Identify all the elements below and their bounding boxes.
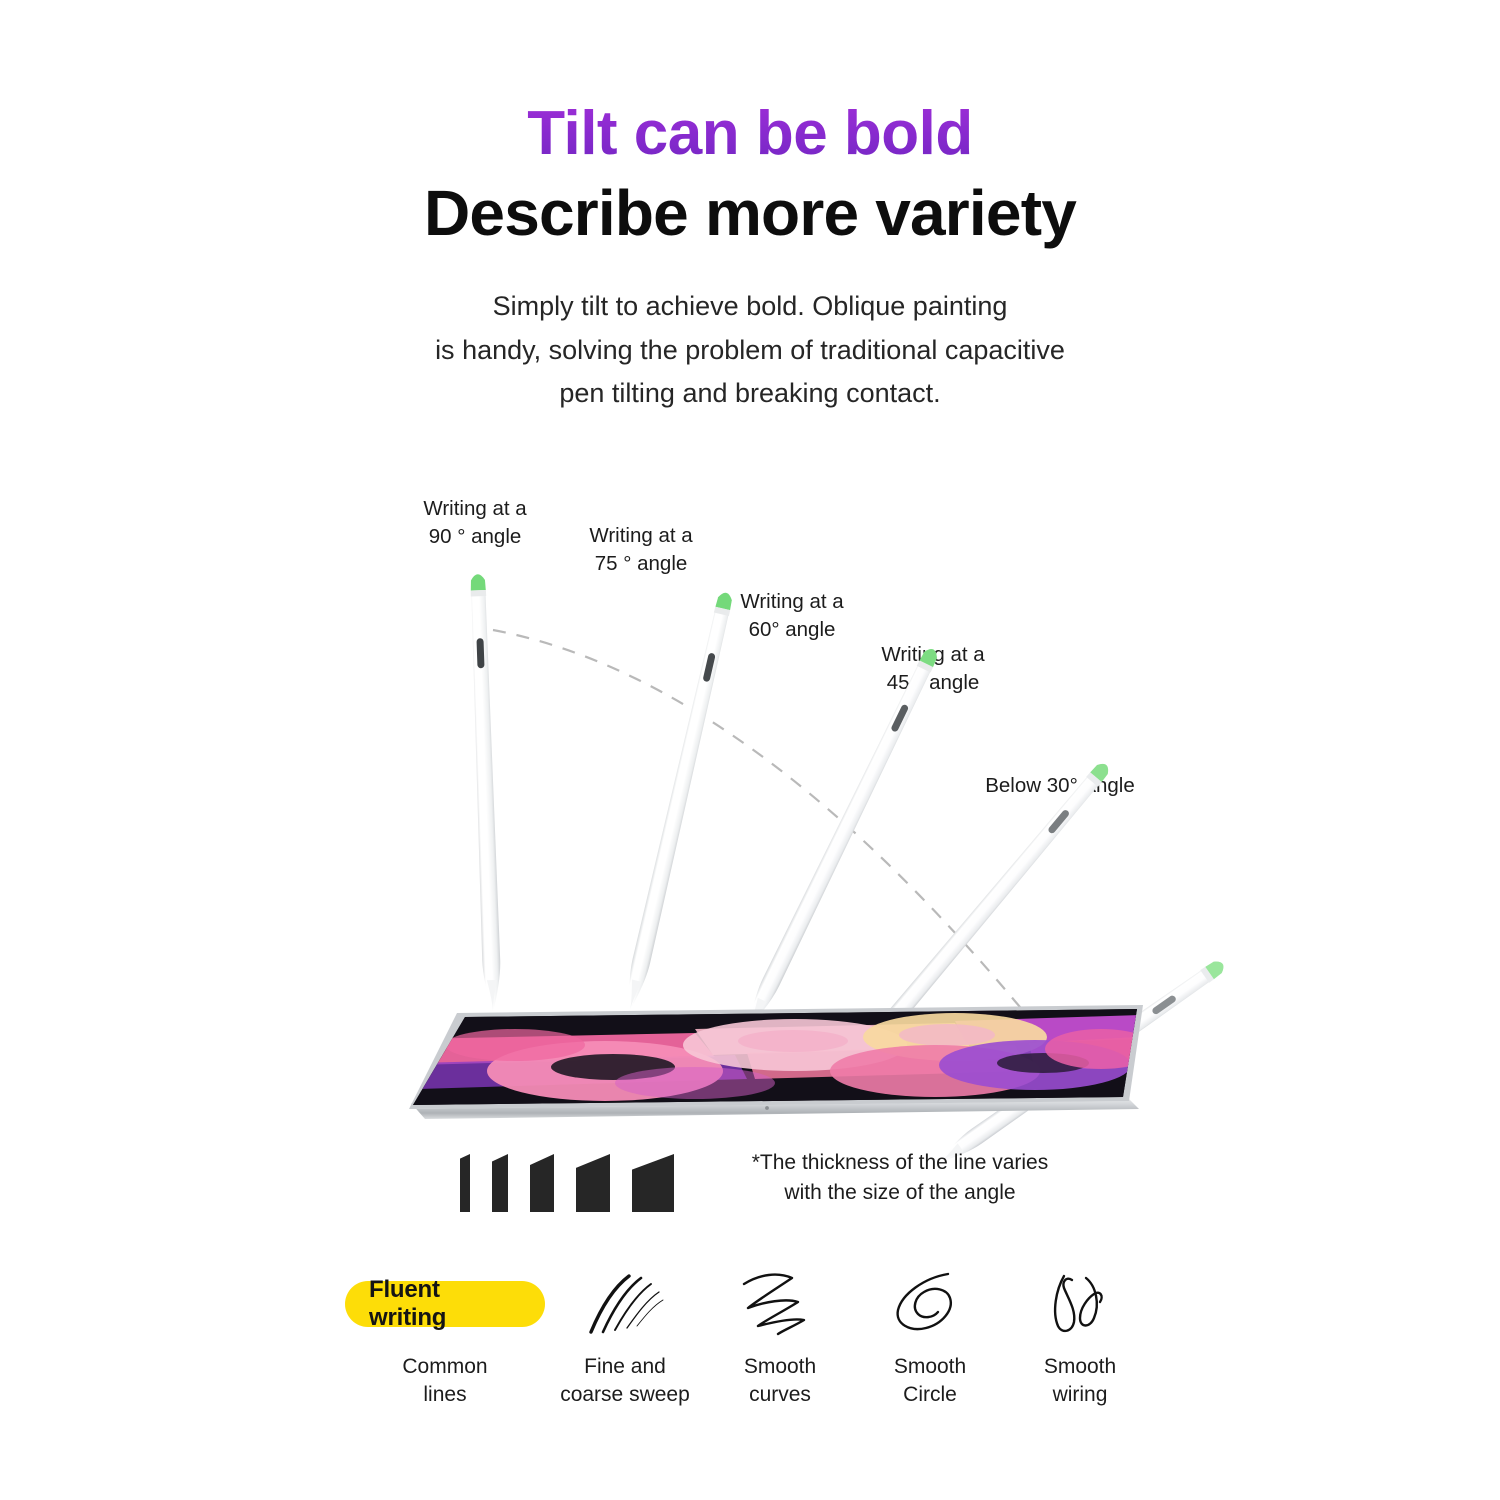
thickness-mark: [576, 1154, 610, 1212]
stylus-75-degree: [600, 574, 752, 1043]
subtitle-line-2: is handy, solving the problem of traditi…: [370, 329, 1130, 373]
feature-caption: Smooth wiring: [1044, 1353, 1116, 1410]
subtitle-line-1: Simply tilt to achieve bold. Oblique pai…: [370, 285, 1130, 329]
looped-wire-icon: [1034, 1265, 1126, 1343]
product-feature-page: Tilt can be bold Describe more variety S…: [0, 0, 1500, 1500]
spiral-circle-icon: [884, 1265, 976, 1343]
line-thickness-legend: *The thickness of the line varies with t…: [0, 1150, 1500, 1240]
angle-label-90: Writing at a 90 ° angle: [380, 495, 570, 550]
feature-coarse-sweep: Fine and coarse sweep: [545, 1265, 705, 1410]
thickness-note: *The thickness of the line varies with t…: [740, 1148, 1060, 1209]
tablet-device: [395, 1005, 1155, 1135]
feature-smooth-wiring: Smooth wiring: [1005, 1265, 1155, 1410]
fluent-writing-badge-wrap: Fluent writing: [345, 1265, 545, 1343]
feature-caption: Fine and coarse sweep: [560, 1353, 690, 1410]
zigzag-curve-icon: [734, 1265, 826, 1343]
feature-smooth-curves: Smooth curves: [705, 1265, 855, 1410]
thickness-marks: [460, 1150, 674, 1212]
page-title: Describe more variety: [0, 181, 1500, 245]
writing-feature-row: Fluent writing Common lines Fine and coa…: [0, 1265, 1500, 1410]
subtitle-line-3: pen tilting and breaking contact.: [370, 372, 1130, 416]
thickness-mark: [460, 1154, 470, 1212]
thickness-note-line-1: *The thickness of the line varies: [740, 1148, 1060, 1178]
accent-title: Tilt can be bold: [0, 0, 1500, 165]
feature-smooth-circle: Smooth Circle: [855, 1265, 1005, 1410]
feature-caption: Common lines: [402, 1353, 487, 1410]
angle-label-75: Writing at a 75 ° angle: [546, 522, 736, 577]
stylus-90-degree: [453, 559, 518, 1040]
stylus-angle-diagram: Writing at a 90 ° angle Writing at a 75 …: [0, 430, 1500, 1150]
thickness-mark: [530, 1154, 554, 1212]
fluent-writing-badge[interactable]: Fluent writing: [345, 1281, 545, 1327]
feature-caption: Smooth Circle: [894, 1353, 966, 1410]
feature-caption: Smooth curves: [744, 1353, 816, 1410]
subtitle: Simply tilt to achieve bold. Oblique pai…: [370, 285, 1130, 416]
feature-common-lines: Fluent writing Common lines: [345, 1265, 545, 1410]
sweep-strokes-icon: [579, 1265, 671, 1343]
thickness-mark: [632, 1154, 674, 1212]
thickness-mark: [492, 1154, 508, 1212]
header: Tilt can be bold Describe more variety S…: [0, 0, 1500, 416]
thickness-note-line-2: with the size of the angle: [740, 1178, 1060, 1208]
